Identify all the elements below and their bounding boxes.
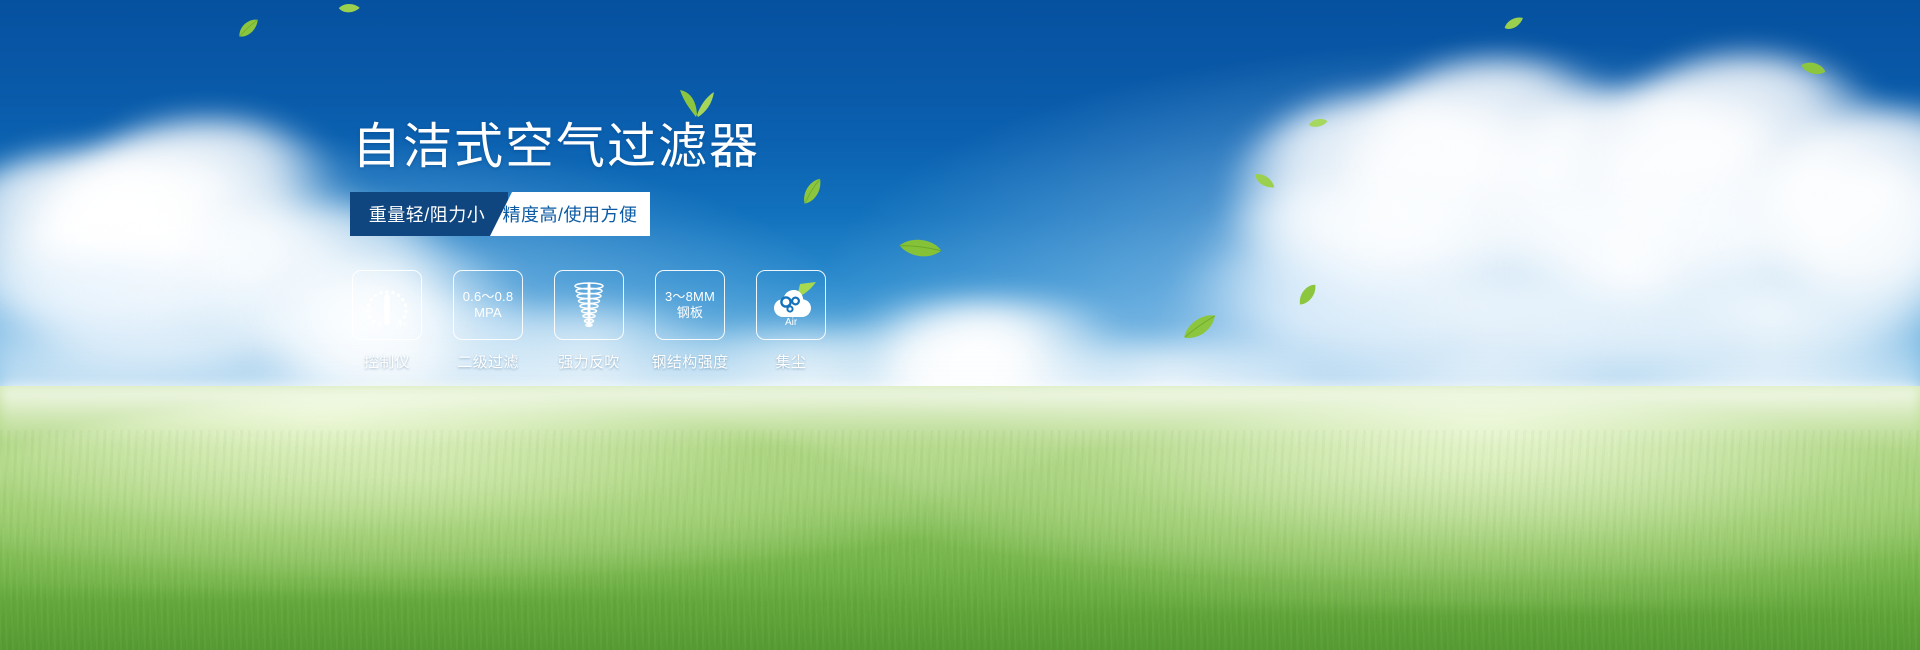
tab-group: 重量轻/阻力小 精度高/使用方便 [350,192,650,236]
air-cloud-icon: Air [756,270,826,340]
title-leaf-icon [676,88,716,123]
blowback-coil-icon [554,270,624,340]
banner-stage: 自洁式空气过滤器 重量轻/阻力小 精度高/使用方便 [0,0,1920,650]
feature-item-blowback[interactable]: 强力反吹 [554,270,624,372]
banner-content: 自洁式空气过滤器 重量轻/阻力小 精度高/使用方便 [0,0,1920,650]
feature-item-control[interactable]: NO OFF 控制仪 [352,270,422,372]
steel-material: 钢板 [677,305,703,321]
control-gauge-icon: NO OFF [352,270,422,340]
page-title: 自洁式空气过滤器 [352,118,760,176]
feature-list: NO OFF 控制仪 0.6～0.8 MPA 二级过滤 [352,270,826,372]
feature-label: 强力反吹 [558,351,620,372]
steel-thickness: 3～8MM [665,289,715,305]
tab-light-weight[interactable]: 重量轻/阻力小 [350,192,508,236]
feature-item-filter[interactable]: 0.6～0.8 MPA 二级过滤 [453,270,523,372]
svg-text:Air: Air [785,317,798,328]
pressure-icon: 0.6～0.8 MPA [453,270,523,340]
feature-label: 控制仪 [364,351,410,372]
tab-high-precision[interactable]: 精度高/使用方便 [490,192,650,236]
feature-label: 集尘 [776,351,807,372]
steel-plate-icon: 3～8MM 钢板 [655,270,725,340]
feature-item-dust[interactable]: Air 集尘 [756,270,826,372]
svg-text:OFF: OFF [395,323,407,329]
feature-item-steel[interactable]: 3～8MM 钢板 钢结构强度 [655,270,725,372]
svg-text:NO: NO [362,307,372,314]
pressure-range: 0.6～0.8 [463,289,514,305]
pressure-unit: MPA [474,305,502,321]
feature-label: 二级过滤 [457,351,519,372]
feature-label: 钢结构强度 [652,351,729,372]
